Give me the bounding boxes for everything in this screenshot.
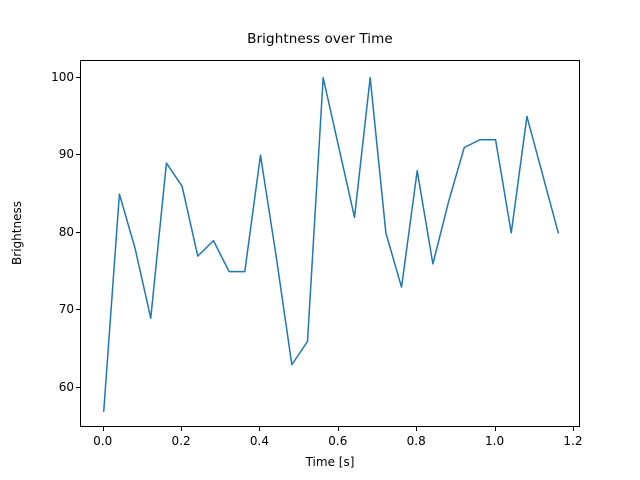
figure-canvas: Brightness over Time 60708090100 0.00.20… [0,0,640,480]
chart-title: Brightness over Time [0,31,640,47]
y-tick-label: 80 [34,225,74,239]
y-tick-label: 90 [34,147,74,161]
x-tick-label: 1.2 [543,434,603,448]
plot-axes [80,60,580,427]
x-tick-label: 0.8 [386,434,446,448]
x-tick-label: 0.2 [151,434,211,448]
x-tick-label: 0.4 [229,434,289,448]
x-tick-label: 0.0 [73,434,133,448]
y-axis-label: Brightness [10,153,24,313]
y-tick-label: 100 [34,70,74,84]
y-tick-label: 70 [34,302,74,316]
x-axis-label: Time [s] [80,455,580,469]
y-tick-label: 60 [34,380,74,394]
x-tick-label: 1.0 [465,434,525,448]
x-tick-label: 0.6 [308,434,368,448]
brightness-line [104,78,559,412]
line-series-svg [81,61,581,428]
